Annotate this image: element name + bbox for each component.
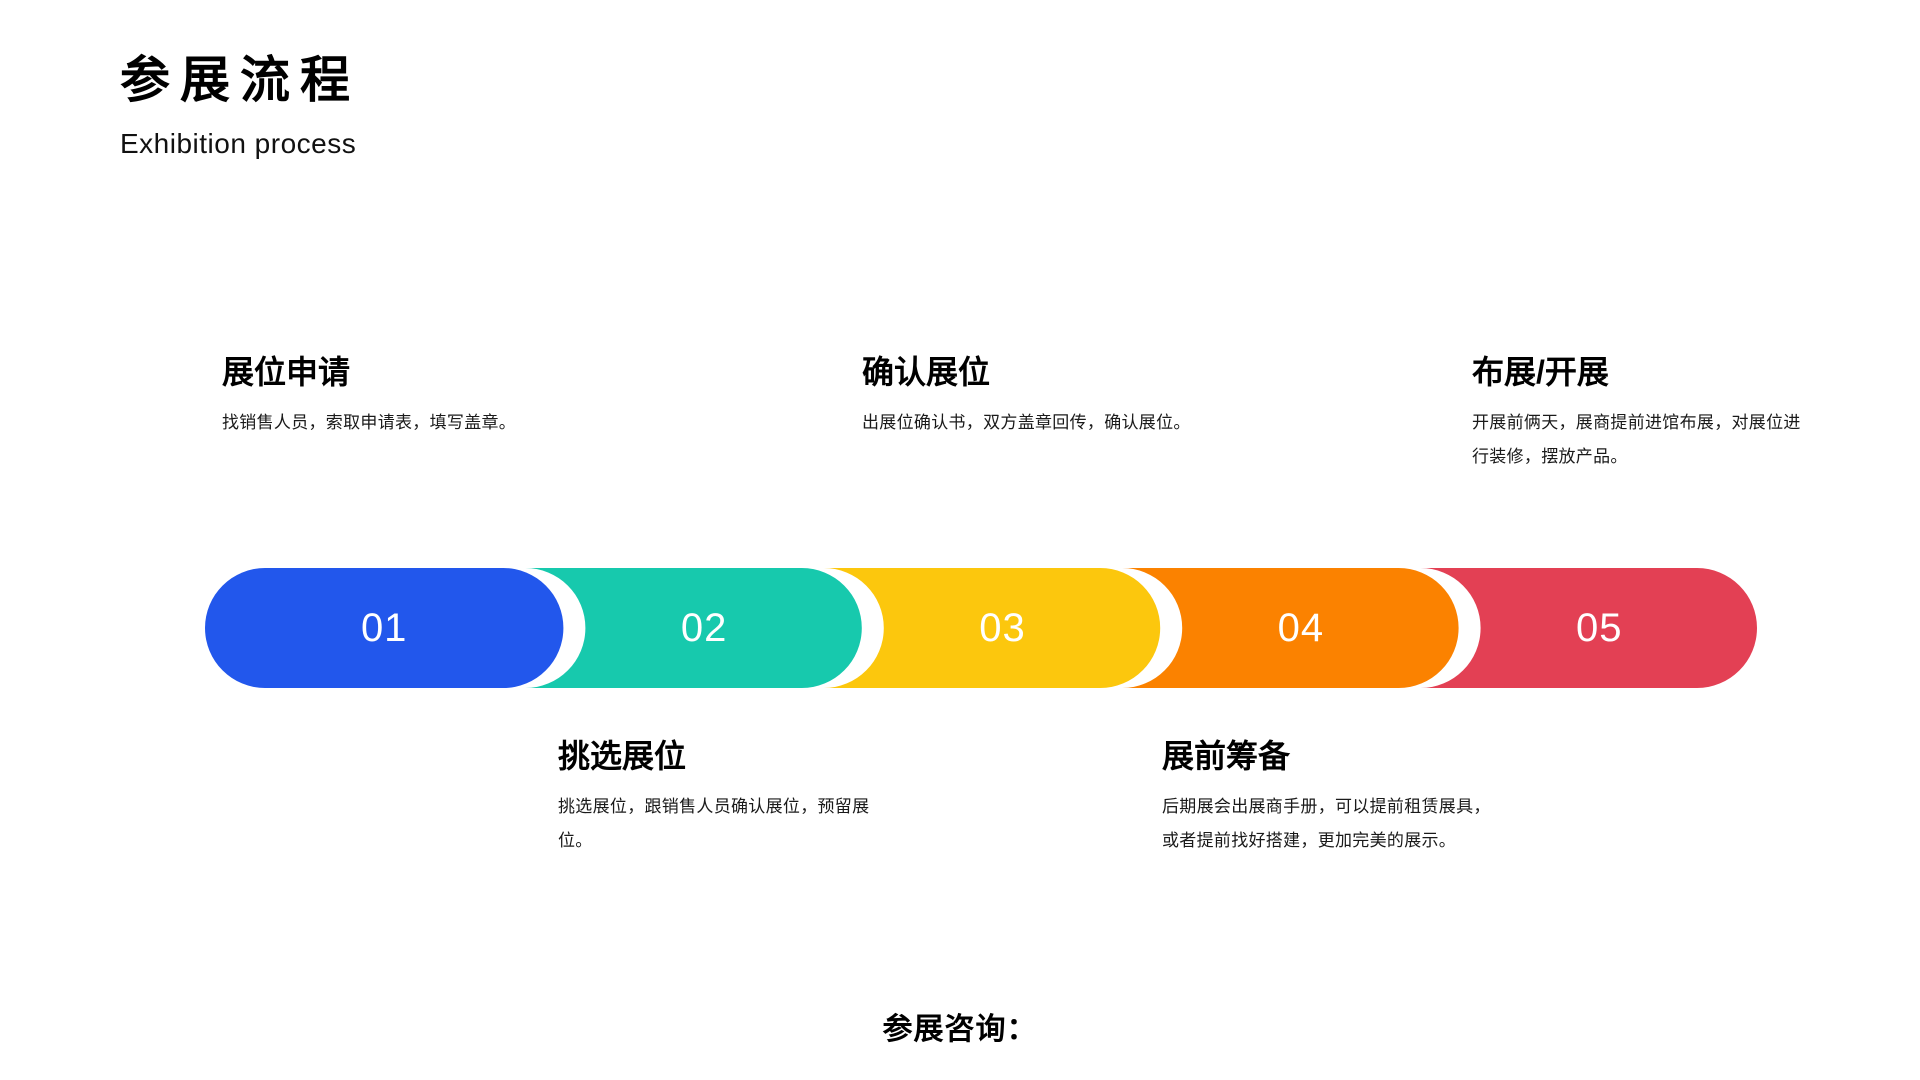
- step-description-3: 出展位确认书，双方盖章回传，确认展位。: [862, 406, 1192, 440]
- step-description-4: 后期展会出展商手册，可以提前租赁展具，或者提前找好搭建，更加完美的展示。: [1162, 790, 1492, 858]
- process-pill-number-05: 05: [1576, 606, 1623, 650]
- process-pill-number-02: 02: [681, 606, 728, 650]
- step-text-block-1: 展位申请 找销售人员，索取申请表，填写盖章。: [222, 352, 552, 440]
- step-text-block-4: 展前筹备 后期展会出展商手册，可以提前租赁展具，或者提前找好搭建，更加完美的展示…: [1162, 736, 1492, 858]
- slide-header: 参展流程 Exhibition process: [120, 52, 360, 160]
- process-pill-number-04: 04: [1278, 606, 1325, 650]
- step-heading-1: 展位申请: [222, 352, 552, 392]
- step-text-block-3: 确认展位 出展位确认书，双方盖章回传，确认展位。: [862, 352, 1192, 440]
- process-pill-svg: 0102030405: [0, 560, 1920, 700]
- step-description-2: 挑选展位，跟销售人员确认展位，预留展位。: [558, 790, 888, 858]
- step-heading-5: 布展/开展: [1472, 352, 1802, 392]
- process-pill-bar: 0102030405: [0, 560, 1920, 700]
- step-text-block-5: 布展/开展 开展前俩天，展商提前进馆布展，对展位进行装修，摆放产品。: [1472, 352, 1802, 474]
- page-subtitle: Exhibition process: [120, 128, 360, 160]
- step-description-5: 开展前俩天，展商提前进馆布展，对展位进行装修，摆放产品。: [1472, 406, 1802, 474]
- step-heading-2: 挑选展位: [558, 736, 888, 776]
- contact-label: 参展咨询：: [0, 1004, 1920, 1048]
- page-title: 参展流程: [120, 52, 360, 110]
- process-pill-number-01: 01: [361, 606, 408, 650]
- step-text-block-2: 挑选展位 挑选展位，跟销售人员确认展位，预留展位。: [558, 736, 888, 858]
- step-heading-3: 确认展位: [862, 352, 1192, 392]
- slide-canvas: 参展流程 Exhibition process 展位申请 找销售人员，索取申请表…: [0, 0, 1920, 1080]
- step-heading-4: 展前筹备: [1162, 736, 1492, 776]
- process-pill-number-03: 03: [979, 606, 1026, 650]
- step-description-1: 找销售人员，索取申请表，填写盖章。: [222, 406, 552, 440]
